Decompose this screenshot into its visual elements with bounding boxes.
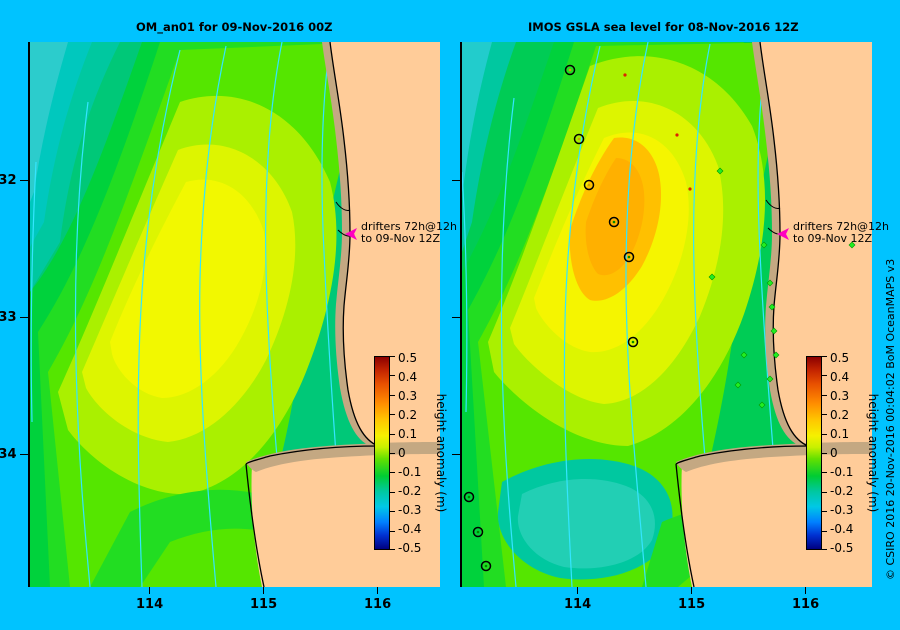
ylabel-left-32: -32 xyxy=(0,173,17,188)
drifter-annotation-right-line2: to 09-Nov 12Z xyxy=(793,233,889,245)
ytick-right-32 xyxy=(452,180,460,181)
cbar-left-t7: -0.2 xyxy=(398,484,421,498)
cbar-left-t4: 0.1 xyxy=(398,427,417,441)
xtick-right-114 xyxy=(577,587,578,594)
xtick-right-115 xyxy=(691,587,692,594)
xlabel-left-114: 114 xyxy=(136,597,163,612)
ytick-left-32 xyxy=(20,180,28,181)
drifter-annotation-left-line2: to 09-Nov 12Z xyxy=(361,233,457,245)
drifter-arrow-icon-left xyxy=(344,226,362,242)
ytick-left-33 xyxy=(20,317,28,318)
drifter-arrow-icon-right xyxy=(776,226,794,242)
cbar-left-t1: 0.4 xyxy=(398,370,417,384)
figure-canvas: OM_an01 for 09-Nov-2016 00Z IMOS GSLA se… xyxy=(0,0,900,630)
credit-text: © CSIRO 2016 20-Nov-2016 00:04:02 BoM Oc… xyxy=(884,259,897,580)
cbar-left-t2: 0.3 xyxy=(398,389,417,403)
cbar-left-t10: -0.5 xyxy=(398,541,421,555)
colorbar-right-title: height anomaly (m) xyxy=(866,356,880,550)
xtick-right-116 xyxy=(805,587,806,594)
xlabel-left-115: 115 xyxy=(250,597,277,612)
cbar-right-t2: 0.3 xyxy=(830,389,849,403)
xtick-left-115 xyxy=(263,587,264,594)
colorbar-right-gradient xyxy=(806,356,822,550)
drifter-annotation-left: drifters 72h@12h to 09-Nov 12Z xyxy=(361,221,457,245)
xlabel-right-116: 116 xyxy=(792,597,819,612)
cbar-right-t7: -0.2 xyxy=(830,484,853,498)
xlabel-right-115: 115 xyxy=(678,597,705,612)
colorbar-left-labels: 0.5 0.4 0.3 0.2 0.1 0 -0.1 -0.2 -0.3 -0.… xyxy=(398,356,434,550)
xtick-left-114 xyxy=(149,587,150,594)
ylabel-left-34: -34 xyxy=(0,447,17,462)
cbar-right-t5: 0 xyxy=(830,446,838,460)
ytick-right-33 xyxy=(452,317,460,318)
cbar-left-t0: 0.5 xyxy=(398,351,417,365)
cbar-right-t10: -0.5 xyxy=(830,541,853,555)
cbar-right-t3: 0.2 xyxy=(830,408,849,422)
cbar-left-t6: -0.1 xyxy=(398,465,421,479)
cbar-right-t4: 0.1 xyxy=(830,427,849,441)
colorbar-right-ticks xyxy=(822,356,828,550)
colorbar-left-ticks xyxy=(390,356,396,550)
cbar-right-t0: 0.5 xyxy=(830,351,849,365)
ylabel-left-33: -33 xyxy=(0,310,17,325)
drifter-annotation-right: drifters 72h@12h to 09-Nov 12Z xyxy=(793,221,889,245)
panel-title-left: OM_an01 for 09-Nov-2016 00Z xyxy=(136,20,332,34)
panel-title-right: IMOS GSLA sea level for 08-Nov-2016 12Z xyxy=(528,20,799,34)
cbar-left-t3: 0.2 xyxy=(398,408,417,422)
cbar-right-t9: -0.4 xyxy=(830,522,853,536)
cbar-left-t9: -0.4 xyxy=(398,522,421,536)
cbar-right-t1: 0.4 xyxy=(830,370,849,384)
xtick-left-116 xyxy=(377,587,378,594)
colorbar-left-gradient xyxy=(374,356,390,550)
ytick-right-34 xyxy=(452,454,460,455)
cbar-right-t8: -0.3 xyxy=(830,503,853,517)
cbar-left-t5: 0 xyxy=(398,446,406,460)
cbar-right-t6: -0.1 xyxy=(830,465,853,479)
xlabel-left-116: 116 xyxy=(364,597,391,612)
colorbar-right-labels: 0.5 0.4 0.3 0.2 0.1 0 -0.1 -0.2 -0.3 -0.… xyxy=(830,356,866,550)
ytick-left-34 xyxy=(20,454,28,455)
xlabel-right-114: 114 xyxy=(564,597,591,612)
cbar-left-t8: -0.3 xyxy=(398,503,421,517)
colorbar-left-title: height anomaly (m) xyxy=(434,356,448,550)
